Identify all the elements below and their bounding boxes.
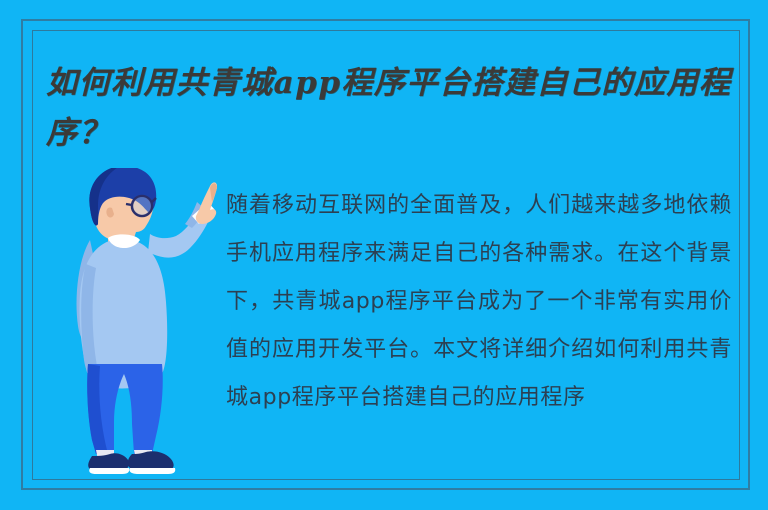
poster-canvas: 如何利用共青城app程序平台搭建自己的应用程序？ 随着移动互联网的全面普及，人们… [0,0,768,510]
shoe-sole-left [89,468,129,474]
shoe-right [128,451,174,470]
shoe-left [88,453,129,470]
article-paragraph: 随着移动互联网的全面普及，人们越来越多地依赖手机应用程序来满足自己的各种需求。在… [226,182,732,422]
shoe-sole-right [129,468,175,474]
man-pointing-illustration [52,168,217,480]
page-title: 如何利用共青城app程序平台搭建自己的应用程序？ [46,58,736,158]
person-figure-svg [52,168,217,480]
